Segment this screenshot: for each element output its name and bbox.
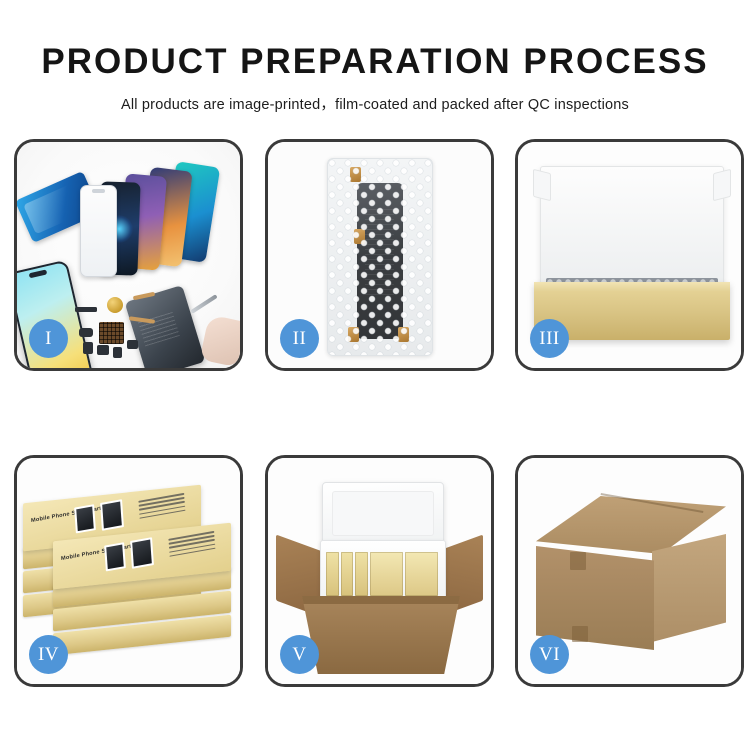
step-2-image: II: [268, 142, 491, 368]
carton-tape-patch: [570, 552, 586, 570]
step-badge-2: II: [280, 319, 319, 358]
small-part-graphic: [79, 328, 93, 337]
small-part-graphic: [75, 307, 97, 312]
small-part-graphic: [97, 345, 109, 355]
page-subtitle: All products are image-printed，film-coat…: [0, 93, 750, 114]
box-window-screen: [130, 537, 154, 569]
header: PRODUCT PREPARATION PROCESS All products…: [0, 0, 750, 114]
foam-lid-graphic: [540, 166, 724, 292]
step-panel-6: VI: [515, 455, 744, 687]
small-part-graphic: [113, 347, 122, 358]
step-1-image: I: [17, 142, 240, 368]
product-preparation-infographic: PRODUCT PREPARATION PROCESS All products…: [0, 0, 750, 750]
step-badge-1: I: [29, 319, 68, 358]
screen-protector-graphic: [80, 185, 117, 277]
step-badge-4: IV: [29, 635, 68, 674]
carton-tape-patch: [572, 626, 588, 642]
step-4-image: Mobile Phone Spare Parts Mobile Phone Sp…: [17, 458, 240, 684]
step-badge-6: VI: [530, 635, 569, 674]
step-panel-5: V: [265, 455, 494, 687]
chip-grid-graphic: [99, 322, 124, 344]
foam-lid-open-graphic: [322, 482, 444, 546]
box-spec-lines: [138, 493, 185, 522]
step-panel-1: I: [14, 139, 243, 371]
step-6-image: VI: [518, 458, 741, 684]
step-5-image: V: [268, 458, 491, 684]
carton-front-face: [536, 546, 654, 650]
step-panel-3: III: [515, 139, 744, 371]
packed-boxes-graphic: [326, 552, 438, 596]
step-panel-4: Mobile Phone Spare Parts Mobile Phone Sp…: [14, 455, 243, 687]
speaker-part-graphic: [107, 297, 123, 313]
small-part-graphic: [127, 340, 138, 349]
step-panel-2: II: [265, 139, 494, 371]
bubble-wrap-bag-graphic: [327, 158, 433, 356]
small-part-graphic: [83, 342, 93, 354]
box-spec-lines: [168, 531, 215, 560]
page-title: PRODUCT PREPARATION PROCESS: [0, 44, 750, 81]
process-steps-grid: I II: [14, 139, 736, 687]
step-badge-3: III: [530, 319, 569, 358]
bubble-texture: [328, 159, 432, 355]
step-3-image: III: [518, 142, 741, 368]
box-window-screen: [74, 504, 96, 533]
box-window-screen: [104, 542, 126, 571]
step-badge-5: V: [280, 635, 319, 674]
box-window-screen: [100, 499, 124, 531]
carton-body-graphic: [302, 596, 460, 674]
